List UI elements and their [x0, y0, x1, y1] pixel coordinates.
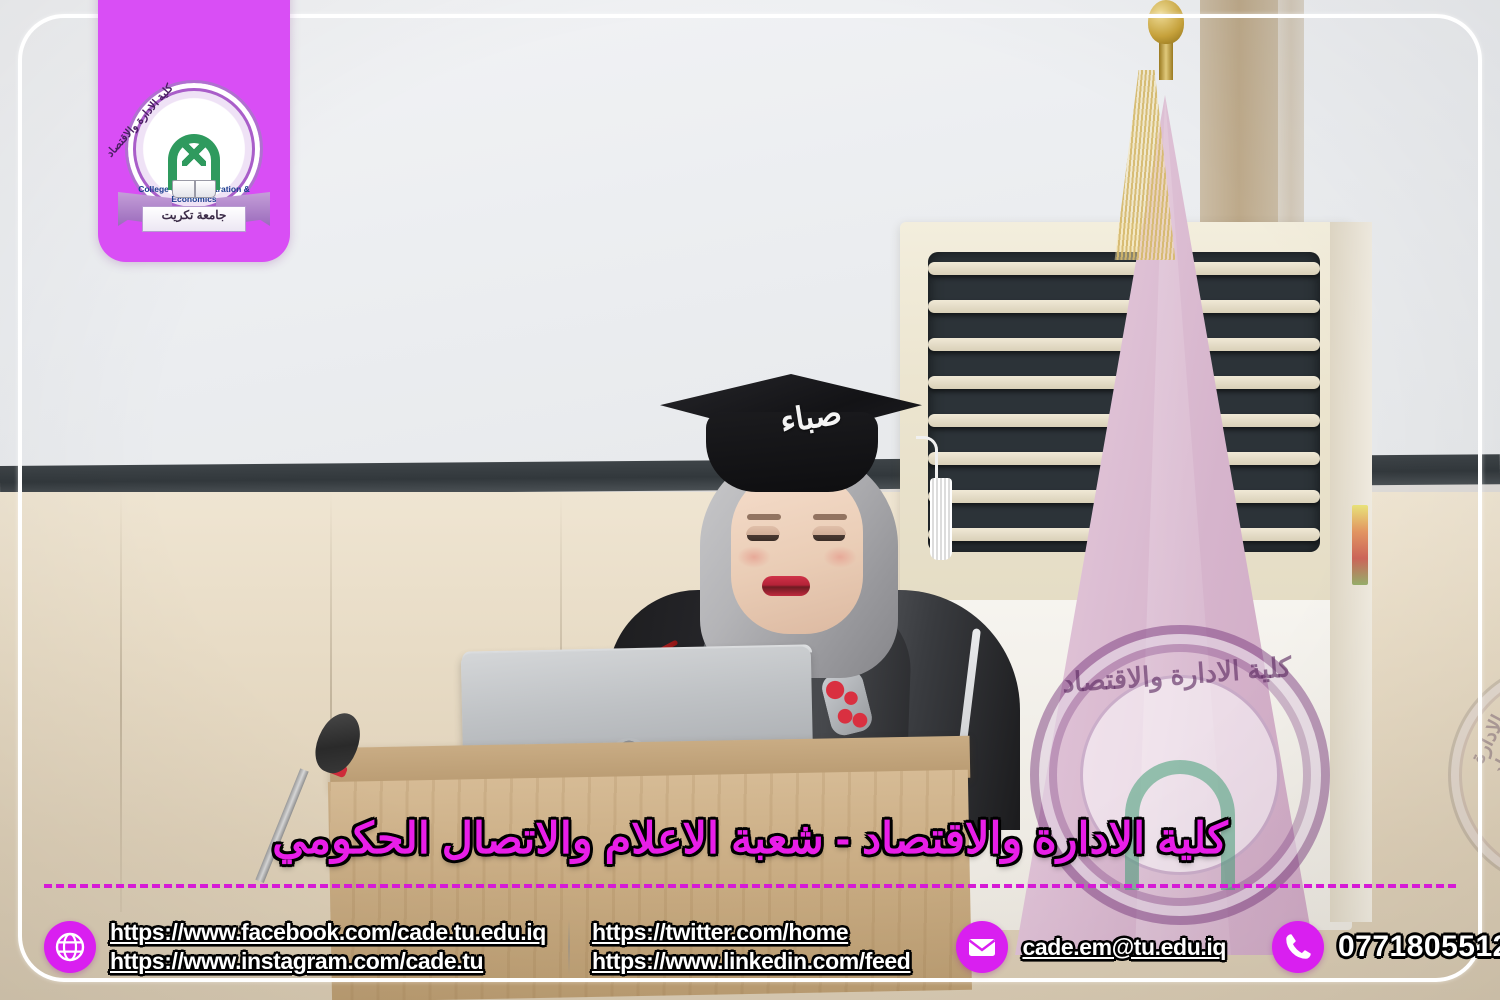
speaker-face — [731, 470, 863, 634]
banner-title: كلية الادارة والاقتصاد - شعبة الاعلام وا… — [0, 814, 1500, 864]
flag-pole-finial — [1148, 0, 1184, 44]
air-conditioner-energy-label — [1352, 505, 1368, 585]
footer-divider — [568, 919, 570, 975]
phone-group: 07718055128 — [1272, 921, 1500, 973]
globe-icon — [44, 921, 96, 973]
phone-number: 07718055128 — [1338, 930, 1500, 964]
twitter-link[interactable]: https://twitter.com/home — [592, 919, 911, 946]
banner-canvas: كلية الادارة والاقتصاد كلية الادارة والا… — [0, 0, 1500, 1000]
instagram-link[interactable]: https://www.instagram.com/cade.tu — [110, 948, 546, 975]
web-links-group: https://www.facebook.com/cade.tu.edu.iq … — [44, 919, 546, 975]
facebook-link[interactable]: https://www.facebook.com/cade.tu.edu.iq — [110, 919, 546, 946]
speaker-lips — [762, 576, 810, 596]
ribbon-label: جامعة تكريت — [142, 208, 246, 222]
phone-icon — [1272, 921, 1324, 973]
college-seal-badge: كلية الادارة والاقتصاد College of Admini… — [98, 0, 290, 262]
cap-tassel — [930, 478, 952, 560]
email-group: cade.em@tu.edu.iq — [956, 921, 1226, 973]
web-link-list: https://www.facebook.com/cade.tu.edu.iq … — [110, 919, 546, 975]
banner-title-text: كلية الادارة والاقتصاد - شعبة الاعلام وا… — [272, 814, 1228, 864]
flag-pole-neck — [1159, 40, 1173, 80]
email-address[interactable]: cade.em@tu.edu.iq — [1022, 934, 1226, 961]
seal-open-book-icon — [172, 180, 216, 198]
contact-footer: https://www.facebook.com/cade.tu.edu.iq … — [44, 906, 1456, 988]
social-link-list: https://twitter.com/home https://www.lin… — [592, 919, 911, 975]
seal-knot-motif — [182, 142, 206, 166]
linkedin-link[interactable]: https://www.linkedin.com/feed — [592, 948, 911, 975]
social-links-group: https://twitter.com/home https://www.lin… — [592, 919, 911, 975]
footer-dashed-divider — [44, 884, 1456, 888]
flag-seal-text: كلية الادارة والاقتصاد — [1046, 651, 1314, 789]
envelope-icon — [956, 921, 1008, 973]
cap-tassel-cord — [916, 436, 938, 484]
